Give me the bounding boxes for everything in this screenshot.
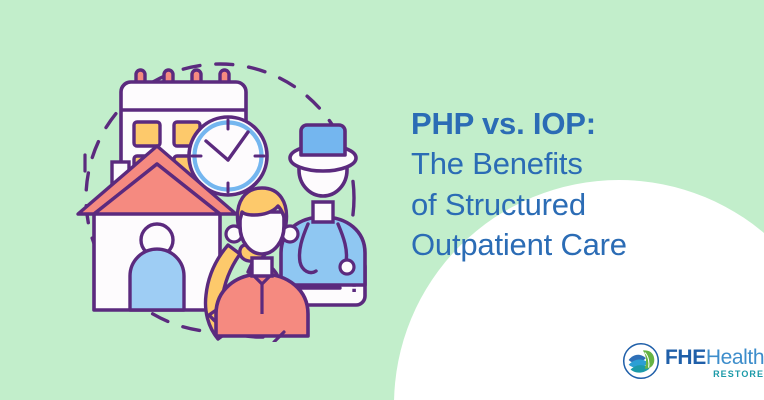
title-line-3: of Structured [411, 185, 741, 225]
logo-wordmark: FHEHealth [665, 347, 764, 368]
fhe-wave-leaf-mark-icon [622, 342, 660, 380]
title-line-4: Outpatient Care [411, 225, 741, 265]
logo-brand-primary: FHE [665, 346, 706, 369]
logo-text-lockup: FHEHealth RESTORE [665, 342, 764, 379]
blog-hero-banner: ? [0, 0, 764, 400]
title-line-2: The Benefits [411, 144, 741, 184]
logo-brand-secondary: Health [706, 346, 764, 369]
illustration-graphic: ? [68, 58, 372, 342]
logo-tagline: RESTORE [665, 370, 764, 379]
title-line-1: PHP vs. IOP: [411, 104, 741, 144]
fhe-health-logo[interactable]: FHEHealth RESTORE [622, 342, 764, 380]
page-title: PHP vs. IOP: The Benefits of Structured … [411, 104, 741, 265]
